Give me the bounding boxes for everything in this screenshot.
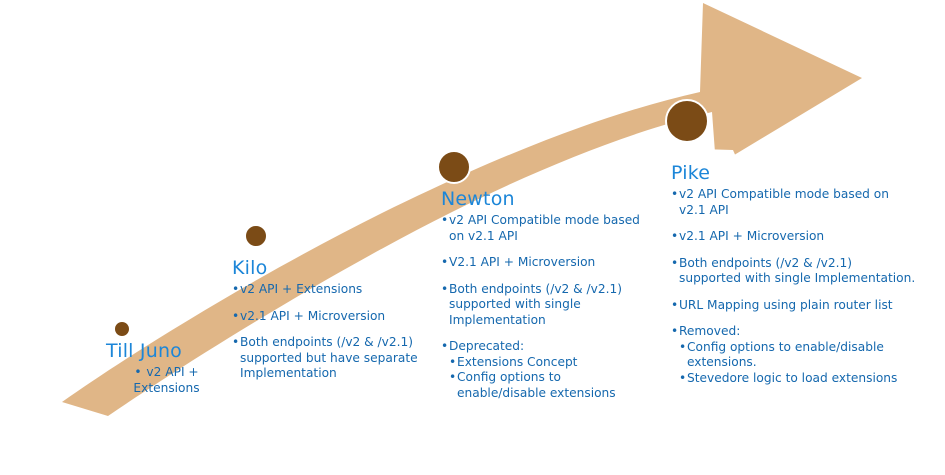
bullet-text: v2.1 API + Microversion <box>240 309 385 323</box>
bullet-item: v2 API + Extensions <box>104 365 229 396</box>
bullet-text: V2.1 API + Microversion <box>449 255 595 269</box>
bullet-text: v2.1 API + Microversion <box>679 229 824 243</box>
sub-bullet-item: Config options to enable/disable extensi… <box>449 370 653 401</box>
milestone-heading-pike: Pike <box>671 162 916 184</box>
bullet-text: Both endpoints (/v2 & /v2.1) supported w… <box>449 282 622 327</box>
milestone-marker-till-juno <box>113 320 131 338</box>
milestone-marker-newton <box>437 150 471 184</box>
bullet-item: Both endpoints (/v2 & /v2.1) supported w… <box>441 282 653 329</box>
bullet-text: v2 API Compatible mode based on v2.1 API <box>449 213 640 243</box>
sub-bullets: Config options to enable/disable extensi… <box>679 340 916 387</box>
bullet-item: V2.1 API + Microversion <box>441 255 653 271</box>
milestone-marker-kilo <box>244 224 268 248</box>
bullet-item: v2.1 API + Microversion <box>671 229 916 245</box>
milestone-marker-pike <box>665 99 709 143</box>
bullet-text: v2 API + Extensions <box>133 365 199 395</box>
bullet-item: v2 API + Extensions <box>232 282 432 298</box>
bullet-item: Both endpoints (/v2 & /v2.1) supported w… <box>671 256 916 287</box>
bullet-text: Both endpoints (/v2 & /v2.1) supported w… <box>679 256 915 286</box>
bullet-item: v2 API Compatible mode based on v2.1 API <box>671 187 916 218</box>
milestone-till-juno: Till Juno v2 API + Extensions <box>104 340 229 396</box>
roadmap-diagram: Till Juno v2 API + Extensions Kilo v2 AP… <box>0 0 945 475</box>
milestone-newton: Newton v2 API Compatible mode based on v… <box>441 188 653 401</box>
sub-bullets: Extensions Concept Config options to ena… <box>449 355 653 402</box>
bullet-item: v2 API Compatible mode based on v2.1 API <box>441 213 653 244</box>
bullet-item: Removed: Config options to enable/disabl… <box>671 324 916 386</box>
sub-bullet-item: Config options to enable/disable extensi… <box>679 340 916 371</box>
milestone-bullets-kilo: v2 API + Extensions v2.1 API + Microvers… <box>232 282 432 382</box>
bullet-text: v2 API + Extensions <box>240 282 362 296</box>
sub-bullet-text: Extensions Concept <box>457 355 577 369</box>
milestone-bullets-newton: v2 API Compatible mode based on v2.1 API… <box>441 213 653 401</box>
bullet-text: URL Mapping using plain router list <box>679 298 893 312</box>
milestone-bullets-pike: v2 API Compatible mode based on v2.1 API… <box>671 187 916 386</box>
bullet-item: Both endpoints (/v2 & /v2.1) supported b… <box>232 335 432 382</box>
bullet-text: Both endpoints (/v2 & /v2.1) supported b… <box>240 335 418 380</box>
sub-bullet-text: Config options to enable/disable extensi… <box>687 340 884 370</box>
bullet-text: v2 API Compatible mode based on v2.1 API <box>679 187 889 217</box>
sub-bullet-text: Config options to enable/disable extensi… <box>457 370 616 400</box>
milestone-bullets-till-juno: v2 API + Extensions <box>104 365 229 396</box>
sub-bullet-text: Stevedore logic to load extensions <box>687 371 897 385</box>
sub-bullet-item: Stevedore logic to load extensions <box>679 371 916 387</box>
bullet-item: v2.1 API + Microversion <box>232 309 432 325</box>
milestone-heading-till-juno: Till Juno <box>104 340 229 362</box>
milestone-heading-kilo: Kilo <box>232 257 432 279</box>
bullet-text: Removed: <box>679 324 740 338</box>
milestone-heading-newton: Newton <box>441 188 653 210</box>
sub-bullet-item: Extensions Concept <box>449 355 653 371</box>
bullet-item: Deprecated: Extensions Concept Config op… <box>441 339 653 401</box>
bullet-item: URL Mapping using plain router list <box>671 298 916 314</box>
milestone-kilo: Kilo v2 API + Extensions v2.1 API + Micr… <box>232 257 432 382</box>
milestone-pike: Pike v2 API Compatible mode based on v2.… <box>671 162 916 386</box>
bullet-text: Deprecated: <box>449 339 524 353</box>
